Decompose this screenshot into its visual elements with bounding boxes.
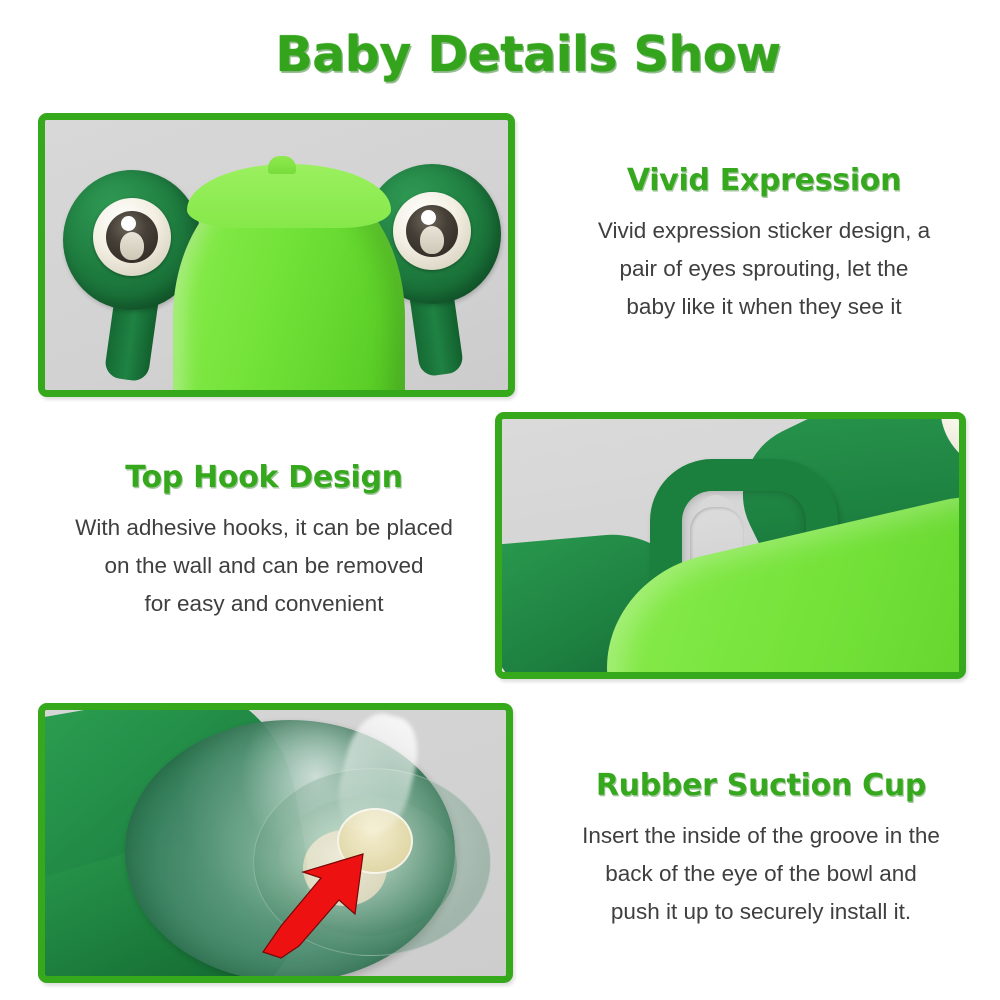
feature-heading-top-hook-design: Top Hook Design	[44, 460, 484, 495]
photo-frog-eyes	[45, 120, 508, 390]
feature-body-top-hook-design: With adhesive hooks, it can be placed on…	[44, 509, 484, 623]
feature-body-line: back of the eye of the bowl and	[605, 861, 916, 886]
feature-body-line: on the wall and can be removed	[105, 553, 424, 578]
feature-body-line: for easy and convenient	[145, 591, 384, 616]
feature-image-rubber-suction-cup	[38, 703, 513, 983]
feature-image-vivid-expression	[38, 113, 515, 397]
eye-highlight-right	[421, 210, 436, 225]
feature-body-vivid-expression: Vivid expression sticker design, a pair …	[550, 212, 978, 326]
frog-head-nub	[268, 156, 296, 174]
feature-body-line: push it up to securely install it.	[611, 899, 911, 924]
feature-body-rubber-suction-cup: Insert the inside of the groove in the b…	[542, 817, 980, 931]
eye-pupil-notch-left	[120, 232, 144, 260]
eye-highlight-left	[121, 216, 136, 231]
eye-pupil-notch-right	[420, 226, 444, 254]
photo-top-hook	[502, 419, 959, 672]
eye-ring-partial-left	[502, 654, 515, 672]
feature-heading-rubber-suction-cup: Rubber Suction Cup	[542, 768, 980, 803]
feature-text-vivid-expression: Vivid Expression Vivid expression sticke…	[550, 163, 978, 326]
feature-heading-vivid-expression: Vivid Expression	[550, 163, 978, 198]
page-title: Baby Details Show	[0, 26, 1000, 83]
feature-body-line: With adhesive hooks, it can be placed	[75, 515, 453, 540]
feature-text-rubber-suction-cup: Rubber Suction Cup Insert the inside of …	[542, 768, 980, 931]
feature-body-line: baby like it when they see it	[626, 294, 901, 319]
feature-body-line: pair of eyes sprouting, let the	[620, 256, 909, 281]
feature-text-top-hook-design: Top Hook Design With adhesive hooks, it …	[44, 460, 484, 623]
eye-ring-partial-right	[927, 419, 959, 477]
product-detail-page: Baby Details Show Vivid Expression Vivid	[0, 0, 1000, 1000]
feature-image-top-hook-design	[495, 412, 966, 679]
red-arrow-icon	[257, 850, 377, 960]
photo-suction-cup	[45, 710, 506, 976]
feature-body-line: Vivid expression sticker design, a	[598, 218, 930, 243]
feature-body-line: Insert the inside of the groove in the	[582, 823, 940, 848]
